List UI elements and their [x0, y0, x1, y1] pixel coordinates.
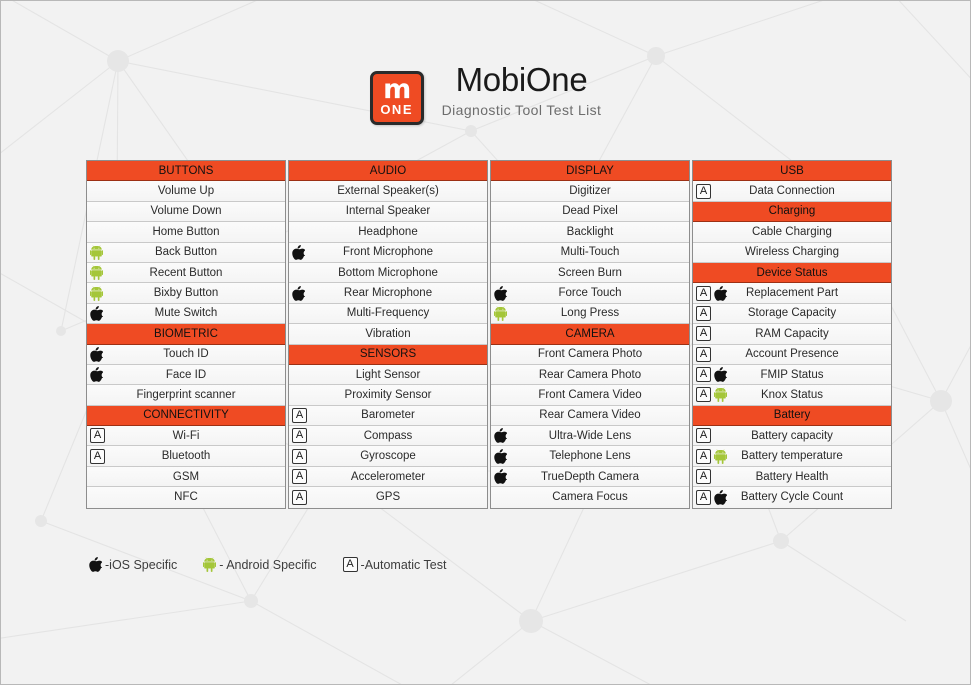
test-item-row[interactable]: Light Sensor: [289, 365, 487, 385]
test-item-label: NFC: [89, 491, 283, 503]
test-item-row[interactable]: AFMIP Status: [693, 365, 891, 385]
apple-icon: [494, 449, 507, 464]
test-item-row[interactable]: Wireless Charging: [693, 243, 891, 263]
test-item-row[interactable]: AStorage Capacity: [693, 304, 891, 324]
test-item-label: RAM Capacity: [695, 328, 889, 340]
test-item-row[interactable]: Cable Charging: [693, 222, 891, 242]
test-item-label: Proximity Sensor: [291, 389, 485, 401]
test-item-row[interactable]: ABarometer: [289, 406, 487, 426]
test-item-row[interactable]: ACompass: [289, 426, 487, 446]
section-header: BUTTONS: [87, 161, 285, 181]
test-item-label: Gyroscope: [291, 450, 485, 462]
test-item-row[interactable]: ARAM Capacity: [693, 324, 891, 344]
row-icons: [494, 426, 507, 445]
section-header: CAMERA: [491, 324, 689, 344]
test-item-label: Bluetooth: [89, 450, 283, 462]
display-column: DISPLAYDigitizerDead PixelBacklightMulti…: [490, 160, 690, 509]
test-item-row[interactable]: External Speaker(s): [289, 181, 487, 201]
test-item-row[interactable]: Telephone Lens: [491, 446, 689, 466]
test-list-table: BUTTONSVolume UpVolume DownHome ButtonBa…: [86, 160, 892, 509]
row-icons: A: [696, 467, 711, 486]
automatic-test-icon: A: [696, 184, 711, 199]
test-item-row[interactable]: AGPS: [289, 487, 487, 507]
test-item-label: Data Connection: [695, 185, 889, 197]
automatic-test-icon: A: [292, 490, 307, 505]
section-header-label: CAMERA: [493, 328, 687, 340]
legend-label: -iOS Specific: [105, 558, 177, 572]
automatic-test-icon: A: [696, 469, 711, 484]
test-item-label: Camera Focus: [493, 491, 687, 503]
row-icons: A: [696, 365, 727, 384]
apple-icon: [494, 469, 507, 484]
automatic-test-icon: A: [90, 449, 105, 464]
test-item-label: Battery Health: [695, 471, 889, 483]
test-item-row[interactable]: Multi-Frequency: [289, 304, 487, 324]
section-header: AUDIO: [289, 161, 487, 181]
apple-icon: [89, 557, 102, 572]
test-item-label: Vibration: [291, 328, 485, 340]
test-item-row[interactable]: Proximity Sensor: [289, 385, 487, 405]
apple-icon: [292, 245, 305, 260]
test-item-row[interactable]: ABluetooth: [87, 446, 285, 466]
legend-item: -iOS Specific: [89, 557, 177, 572]
section-header-label: BIOMETRIC: [89, 328, 283, 340]
row-icons: [494, 467, 507, 486]
apple-icon: [90, 347, 103, 362]
test-item-label: Wireless Charging: [695, 246, 889, 258]
row-icons: [90, 263, 103, 282]
test-item-row[interactable]: Front Camera Photo: [491, 345, 689, 365]
test-item-label: Volume Up: [89, 185, 283, 197]
test-item-label: Ultra-Wide Lens: [493, 430, 687, 442]
test-item-row[interactable]: Camera Focus: [491, 487, 689, 507]
test-item-row[interactable]: Fingerprint scanner: [87, 385, 285, 405]
test-item-label: Long Press: [493, 307, 687, 319]
row-icons: A: [90, 426, 105, 445]
test-item-label: Wi-Fi: [89, 430, 283, 442]
automatic-test-icon: A: [292, 469, 307, 484]
test-item-row[interactable]: Bixby Button: [87, 283, 285, 303]
row-icons: [292, 283, 305, 302]
app-header: m ONE MobiOne Diagnostic Tool Test List: [1, 61, 970, 125]
row-icons: A: [696, 283, 727, 302]
legend-item: A-Automatic Test: [343, 557, 447, 572]
row-icons: A: [292, 446, 307, 465]
row-icons: [494, 446, 507, 465]
android-icon: [203, 557, 216, 572]
row-icons: A: [292, 406, 307, 425]
test-item-row[interactable]: Rear Microphone: [289, 283, 487, 303]
test-item-label: Back Button: [89, 246, 283, 258]
row-icons: A: [90, 446, 105, 465]
test-item-row[interactable]: Rear Camera Photo: [491, 365, 689, 385]
test-item-label: Recent Button: [89, 267, 283, 279]
automatic-test-icon: A: [696, 347, 711, 362]
legend-label: - Android Specific: [219, 558, 316, 572]
test-item-row[interactable]: AWi-Fi: [87, 426, 285, 446]
apple-icon: [714, 367, 727, 382]
section-header: Battery: [693, 406, 891, 426]
android-icon: [90, 265, 103, 280]
test-item-row[interactable]: ABattery capacity: [693, 426, 891, 446]
test-item-label: Touch ID: [89, 348, 283, 360]
automatic-test-icon: A: [90, 428, 105, 443]
row-icons: A: [292, 426, 307, 445]
test-item-row[interactable]: Mute Switch: [87, 304, 285, 324]
section-header-label: USB: [695, 165, 889, 177]
test-item-label: Dead Pixel: [493, 205, 687, 217]
test-item-label: Accelerometer: [291, 471, 485, 483]
section-header: SENSORS: [289, 345, 487, 365]
automatic-test-icon: A: [696, 449, 711, 464]
automatic-test-icon: A: [292, 449, 307, 464]
test-item-label: Internal Speaker: [291, 205, 485, 217]
test-item-row[interactable]: AKnox Status: [693, 385, 891, 405]
test-item-row[interactable]: Ultra-Wide Lens: [491, 426, 689, 446]
row-icons: A: [696, 385, 727, 404]
test-item-label: Front Camera Video: [493, 389, 687, 401]
test-item-row[interactable]: Force Touch: [491, 283, 689, 303]
legend-label: -Automatic Test: [361, 558, 447, 572]
section-header: CONNECTIVITY: [87, 406, 285, 426]
test-item-label: Compass: [291, 430, 485, 442]
automatic-test-icon: A: [696, 367, 711, 382]
automatic-test-icon: A: [696, 326, 711, 341]
apple-icon: [714, 490, 727, 505]
test-item-row[interactable]: Screen Burn: [491, 263, 689, 283]
row-icons: A: [696, 324, 711, 343]
test-item-label: Rear Camera Video: [493, 409, 687, 421]
section-header: BIOMETRIC: [87, 324, 285, 344]
automatic-test-icon: A: [696, 428, 711, 443]
test-item-label: Force Touch: [493, 287, 687, 299]
row-icons: [494, 283, 507, 302]
row-icons: [90, 345, 103, 364]
row-icons: [90, 365, 103, 384]
mobione-logo: m ONE: [370, 71, 424, 125]
test-item-label: Telephone Lens: [493, 450, 687, 462]
test-item-row[interactable]: ABattery Health: [693, 467, 891, 487]
section-header: USB: [693, 161, 891, 181]
test-item-row[interactable]: NFC: [87, 487, 285, 507]
section-header-label: AUDIO: [291, 165, 485, 177]
row-icons: [292, 243, 305, 262]
test-item-label: Backlight: [493, 226, 687, 238]
section-header: Device Status: [693, 263, 891, 283]
logo-letter-m: m: [383, 80, 410, 100]
android-icon: [714, 449, 727, 464]
audio-column: AUDIOExternal Speaker(s)Internal Speaker…: [288, 160, 488, 509]
section-header-label: Device Status: [695, 267, 889, 279]
row-icons: A: [696, 487, 727, 507]
test-item-row[interactable]: Rear Camera Video: [491, 406, 689, 426]
test-item-label: GPS: [291, 491, 485, 503]
row-icons: A: [696, 304, 711, 323]
test-item-row[interactable]: AReplacement Part: [693, 283, 891, 303]
apple-icon: [494, 428, 507, 443]
test-item-row[interactable]: Front Microphone: [289, 243, 487, 263]
test-item-row[interactable]: AData Connection: [693, 181, 891, 201]
test-item-label: Bottom Microphone: [291, 267, 485, 279]
test-item-label: Screen Burn: [493, 267, 687, 279]
apple-icon: [714, 286, 727, 301]
automatic-test-icon: A: [292, 408, 307, 423]
test-item-label: Account Presence: [695, 348, 889, 360]
title-block: MobiOne Diagnostic Tool Test List: [442, 61, 602, 118]
section-header-label: DISPLAY: [493, 165, 687, 177]
apple-icon: [90, 306, 103, 321]
automatic-test-icon: A: [292, 428, 307, 443]
section-header-label: BUTTONS: [89, 165, 283, 177]
android-icon: [90, 286, 103, 301]
test-item-row[interactable]: Touch ID: [87, 345, 285, 365]
row-icons: [494, 304, 507, 323]
automatic-test-icon: A: [696, 286, 711, 301]
test-item-label: External Speaker(s): [291, 185, 485, 197]
row-icons: A: [696, 181, 711, 200]
legend-item: - Android Specific: [203, 557, 316, 572]
test-item-label: Light Sensor: [291, 369, 485, 381]
test-item-label: GSM: [89, 471, 283, 483]
test-item-label: Front Camera Photo: [493, 348, 687, 360]
test-item-row[interactable]: GSM: [87, 467, 285, 487]
test-item-label: Storage Capacity: [695, 307, 889, 319]
section-header-label: SENSORS: [291, 348, 485, 360]
test-item-label: Mute Switch: [89, 307, 283, 319]
row-icons: [90, 283, 103, 302]
section-header: Charging: [693, 202, 891, 222]
test-item-label: Volume Down: [89, 205, 283, 217]
android-icon: [714, 387, 727, 402]
test-item-label: Face ID: [89, 369, 283, 381]
section-header-label: Charging: [695, 205, 889, 217]
test-item-row[interactable]: Face ID: [87, 365, 285, 385]
test-item-label: Barometer: [291, 409, 485, 421]
test-item-label: Fingerprint scanner: [89, 389, 283, 401]
automatic-test-icon: A: [696, 306, 711, 321]
logo-word-one: ONE: [380, 103, 413, 117]
test-item-label: Digitizer: [493, 185, 687, 197]
test-item-row[interactable]: Backlight: [491, 222, 689, 242]
automatic-test-icon: A: [696, 387, 711, 402]
test-item-row[interactable]: AGyroscope: [289, 446, 487, 466]
apple-icon: [292, 286, 305, 301]
test-item-row[interactable]: Bottom Microphone: [289, 263, 487, 283]
test-item-label: Rear Camera Photo: [493, 369, 687, 381]
test-item-row[interactable]: Digitizer: [491, 181, 689, 201]
test-item-row[interactable]: Back Button: [87, 243, 285, 263]
test-item-label: Battery capacity: [695, 430, 889, 442]
row-icons: A: [696, 426, 711, 445]
test-item-label: Cable Charging: [695, 226, 889, 238]
test-item-row[interactable]: AAccount Presence: [693, 345, 891, 365]
test-item-row[interactable]: Front Camera Video: [491, 385, 689, 405]
test-item-row[interactable]: Recent Button: [87, 263, 285, 283]
test-item-row[interactable]: Volume Up: [87, 181, 285, 201]
page-title: MobiOne: [456, 61, 588, 99]
test-item-row[interactable]: Dead Pixel: [491, 202, 689, 222]
row-icons: A: [292, 487, 307, 507]
row-icons: [90, 243, 103, 262]
legend: -iOS Specific- Android SpecificA-Automat…: [89, 557, 446, 572]
test-item-row[interactable]: AAccelerometer: [289, 467, 487, 487]
buttons-column: BUTTONSVolume UpVolume DownHome ButtonBa…: [86, 160, 286, 509]
test-item-label: Multi-Frequency: [291, 307, 485, 319]
android-icon: [494, 306, 507, 321]
test-item-row[interactable]: ABattery temperature: [693, 446, 891, 466]
page-subtitle: Diagnostic Tool Test List: [442, 102, 602, 118]
test-item-label: Headphone: [291, 226, 485, 238]
test-item-label: Bixby Button: [89, 287, 283, 299]
page-root: m ONE MobiOne Diagnostic Tool Test List …: [0, 0, 971, 685]
row-icons: A: [292, 467, 307, 486]
test-item-row[interactable]: Home Button: [87, 222, 285, 242]
row-icons: A: [696, 345, 711, 364]
section-header: DISPLAY: [491, 161, 689, 181]
row-icons: [90, 304, 103, 323]
section-header-label: CONNECTIVITY: [89, 409, 283, 421]
test-item-row[interactable]: Long Press: [491, 304, 689, 324]
test-item-row[interactable]: Volume Down: [87, 202, 285, 222]
test-item-row[interactable]: TrueDepth Camera: [491, 467, 689, 487]
test-item-label: Multi-Touch: [493, 246, 687, 258]
test-item-label: TrueDepth Camera: [493, 471, 687, 483]
row-icons: A: [696, 446, 727, 465]
apple-icon: [494, 286, 507, 301]
test-item-row[interactable]: Multi-Touch: [491, 243, 689, 263]
test-item-row[interactable]: Headphone: [289, 222, 487, 242]
test-item-row[interactable]: Internal Speaker: [289, 202, 487, 222]
test-item-row[interactable]: Vibration: [289, 324, 487, 344]
automatic-test-icon: A: [696, 490, 711, 505]
test-item-label: Front Microphone: [291, 246, 485, 258]
apple-icon: [90, 367, 103, 382]
test-item-label: Home Button: [89, 226, 283, 238]
usb-column: USBAData ConnectionChargingCable Chargin…: [692, 160, 892, 509]
section-header-label: Battery: [695, 409, 889, 421]
android-icon: [90, 245, 103, 260]
test-item-label: Rear Microphone: [291, 287, 485, 299]
automatic-test-icon: A: [343, 557, 358, 572]
test-item-row[interactable]: ABattery Cycle Count: [693, 487, 891, 507]
